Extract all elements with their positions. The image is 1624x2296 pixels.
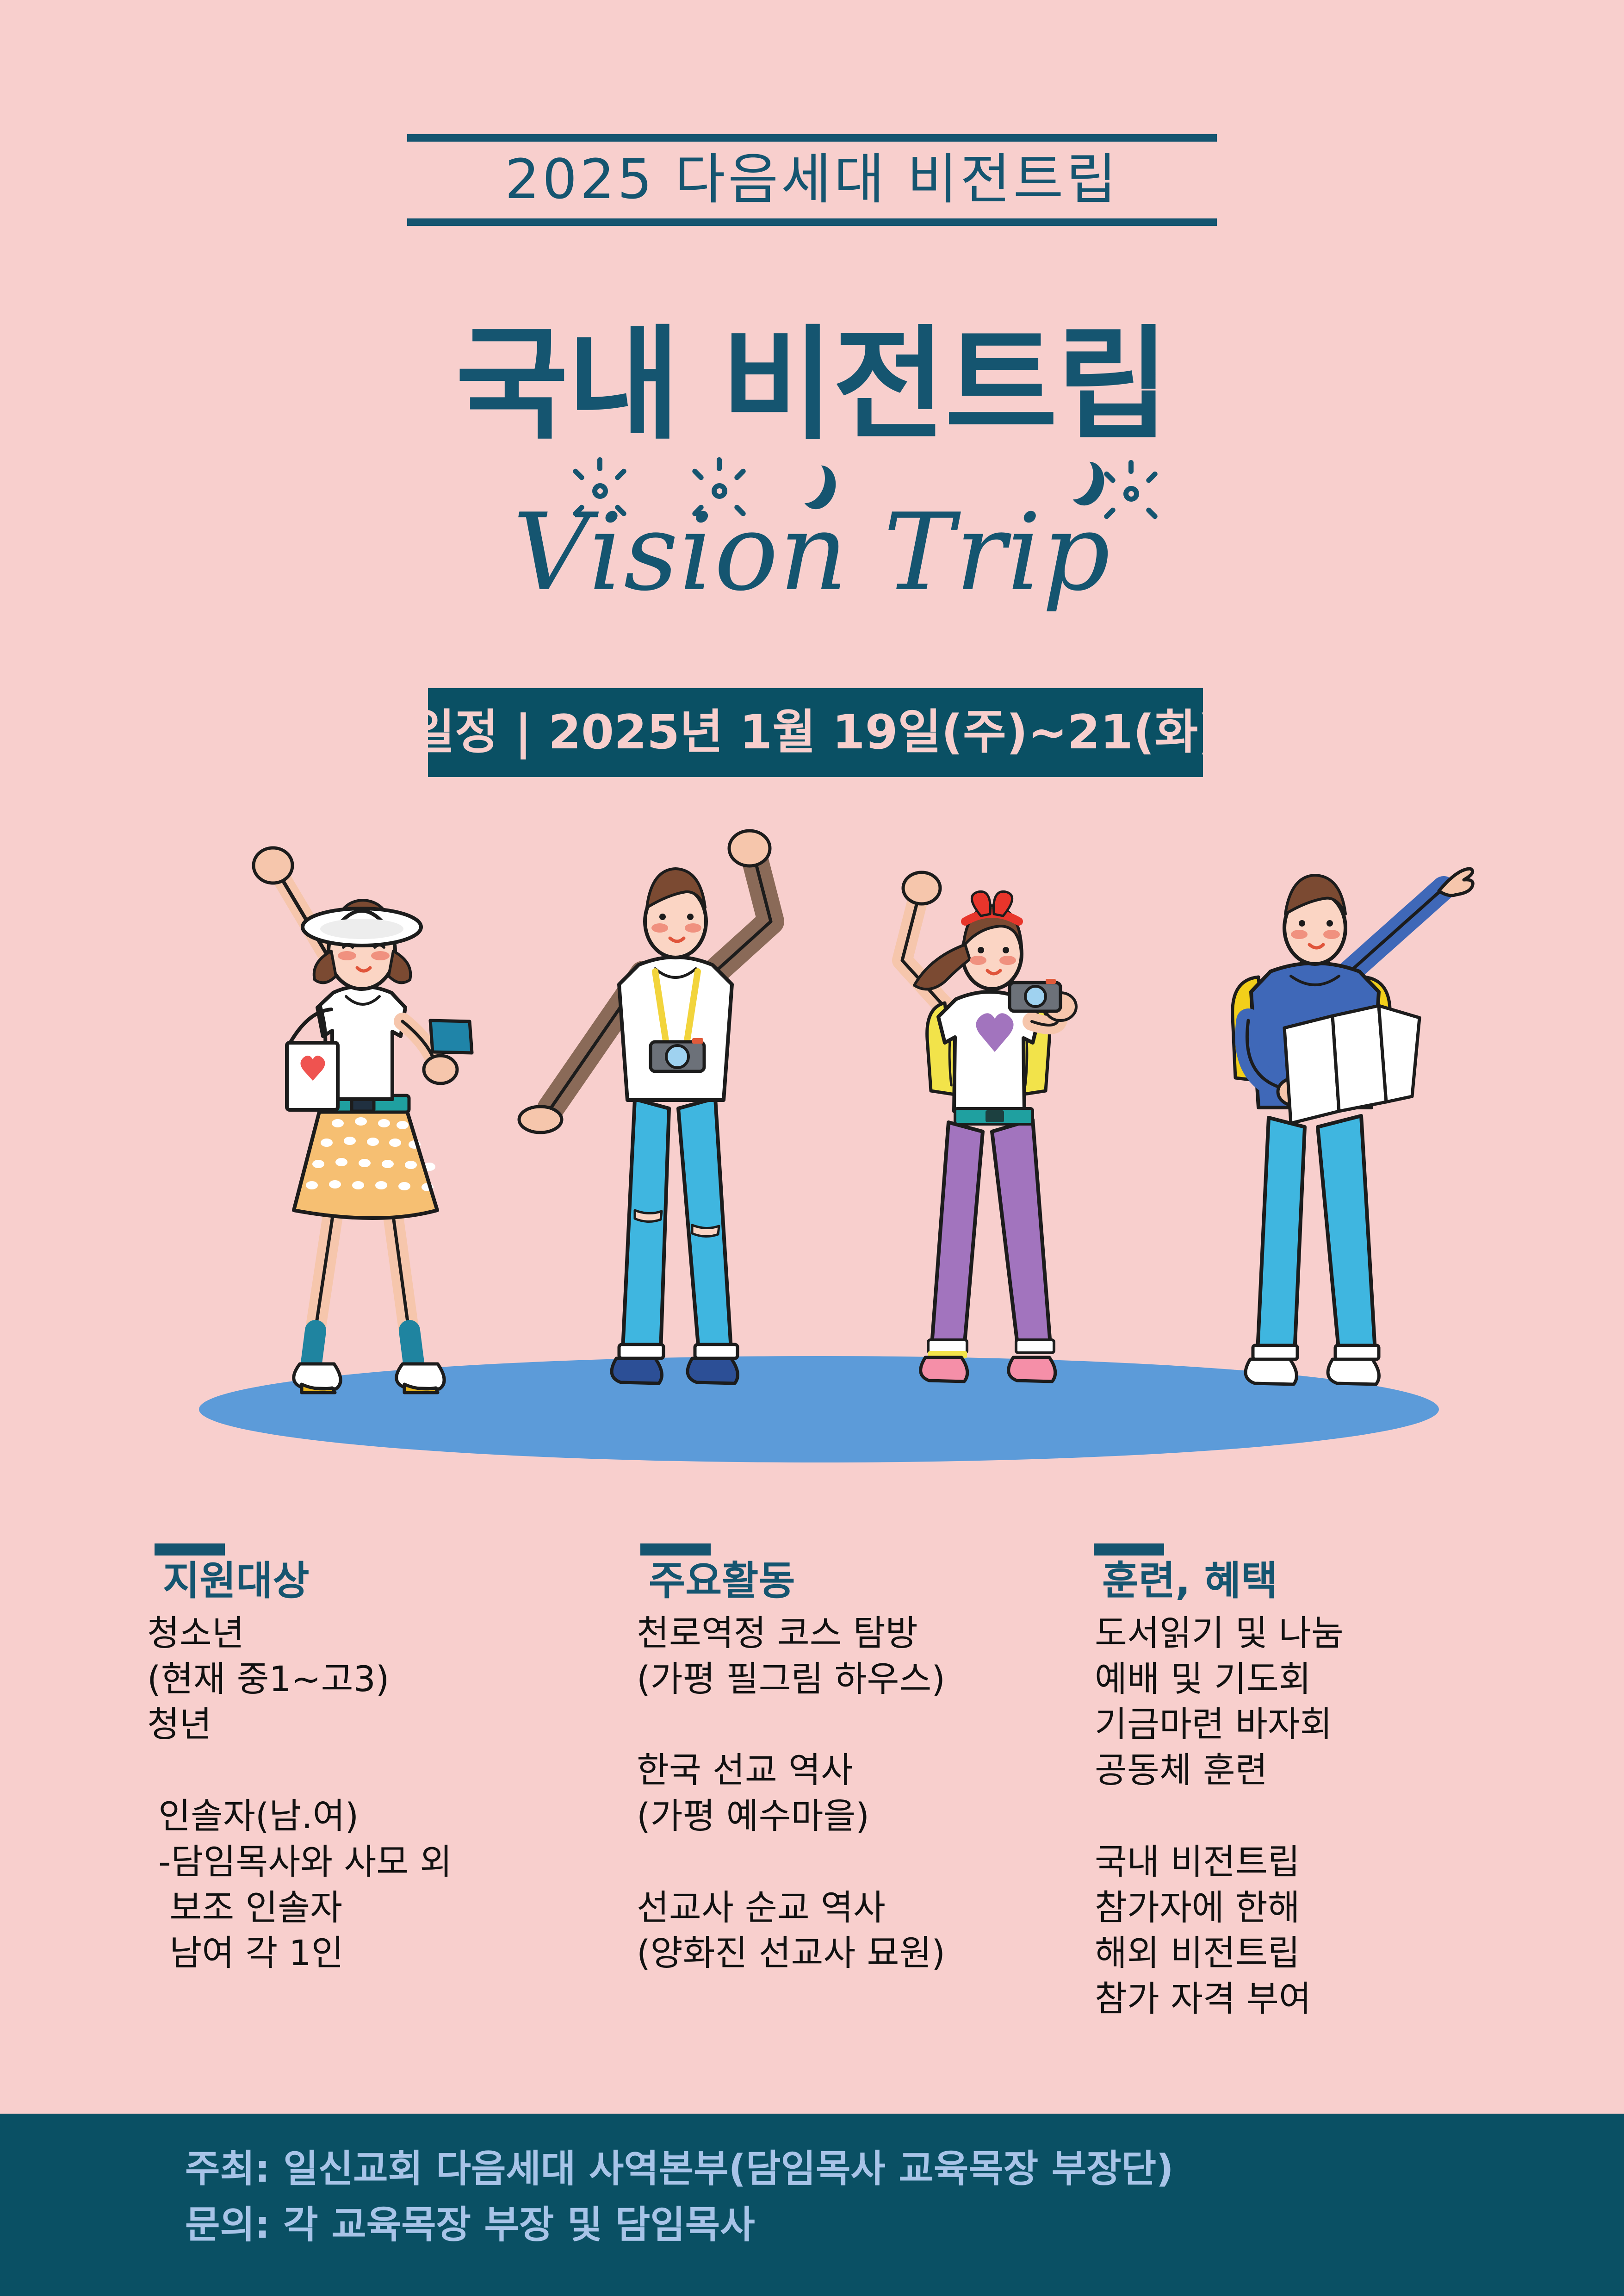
column-body-training-benefits: 도서읽기 및 나눔 예배 및 기도회 기금마련 바자회 공동체 훈련 국내 비전…: [1095, 1611, 1526, 2022]
sun-ray: [597, 457, 602, 471]
eyebrow-text: 2025 다음세대 비전트립: [505, 142, 1119, 218]
sun-ray: [1145, 471, 1159, 484]
footer-host-line: 주최: 일신교회 다음세대 사역본부(담임목사 교육목장 부장단): [185, 2114, 1624, 2192]
sun-ray: [717, 457, 722, 471]
sun-ray: [572, 468, 585, 481]
column-body-support-target: 청소년 (현재 중1~고3) 청년 인솔자(남.여) -담임목사와 사모 외 보…: [147, 1611, 610, 1976]
script-subtitle-text: Vision Trip: [513, 491, 1111, 615]
date-banner-text: 일정 | 2025년 1월 19일(주)~21(화): [411, 709, 1220, 756]
sun-ray: [614, 468, 627, 481]
info-columns: 지원대상 청소년 (현재 중1~고3) 청년 인솔자(남.여) -담임목사와 사…: [0, 1543, 1624, 2090]
sun-icon-3: [1123, 486, 1139, 502]
page-title: 국내 비전트립: [0, 324, 1624, 447]
poster-root: 2025 다음세대 비전트립 국내 비전트립 Vision Trip: [0, 0, 1624, 2296]
column-body-main-activities: 천로역정 코스 탐방 (가평 필그림 하우스) 한국 선교 역사 (가평 예수마…: [637, 1611, 1100, 1976]
date-banner: 일정 | 2025년 1월 19일(주)~21(화): [428, 688, 1203, 777]
eyebrow-rule-bottom: [407, 218, 1217, 226]
sun-ray: [1103, 471, 1116, 484]
eyebrow-block: 2025 다음세대 비전트립: [0, 134, 1624, 226]
sun-ray: [1145, 507, 1159, 520]
figure-girl-with-camera: [833, 812, 1157, 1414]
script-subtitle-wrap: Vision Trip: [0, 500, 1624, 606]
column-main-activities: 주요활동 천로역정 코스 탐방 (가평 필그림 하우스) 한국 선교 역사 (가…: [633, 1543, 1100, 1976]
sun-ray: [691, 468, 705, 481]
eyebrow-rule-top: [407, 134, 1217, 142]
column-support-target: 지원대상 청소년 (현재 중1~고3) 청년 인솔자(남.여) -담임목사와 사…: [147, 1543, 610, 1976]
sun-ray: [733, 468, 747, 481]
footer-contact-line: 문의: 각 교육목장 부장 및 담임목사: [185, 2192, 1624, 2248]
figure-boy-with-map: [1147, 812, 1499, 1414]
column-title-main-activities: 주요활동: [649, 1558, 1100, 1604]
footer-banner: 주최: 일신교회 다음세대 사역본부(담임목사 교육목장 부장단) 문의: 각 …: [0, 2114, 1624, 2296]
sun-ray: [1128, 460, 1134, 474]
column-training-benefits: 훈련, 혜택 도서읽기 및 나눔 예배 및 기도회 기금마련 바자회 공동체 훈…: [1086, 1543, 1526, 2022]
column-underline: [640, 1543, 711, 1556]
column-underline: [155, 1543, 225, 1556]
column-title-training-benefits: 훈련, 혜택: [1102, 1558, 1526, 1604]
column-title-support-target: 지원대상: [163, 1558, 610, 1604]
figure-girl-with-sunhat: [199, 812, 523, 1414]
illustration: [0, 815, 1624, 1462]
figure-boy-with-camera: [514, 812, 837, 1414]
column-underline: [1094, 1543, 1164, 1556]
script-subtitle: Vision Trip: [513, 500, 1111, 606]
